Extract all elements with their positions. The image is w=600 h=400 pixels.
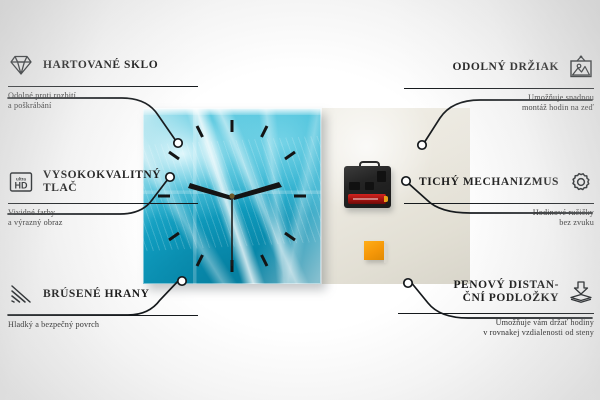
feature-high-quality-print[interactable]: ultra HD VYSOKOKVALITNÝ TLAČ Vividné far… <box>8 165 198 229</box>
feature-head: TICHÝ MECHANIZMUS <box>404 165 594 199</box>
feature-head: BRÚSENÉ HRANY <box>8 277 198 311</box>
feature-divider <box>8 315 198 316</box>
feature-description: Odolné proti rozbití a poškrábání <box>8 91 198 112</box>
gear-icon <box>568 170 594 194</box>
feature-foam-spacers[interactable]: PENOVÝ DISTAN- ČNÍ PODLOŽKY Umožňuje vám… <box>398 275 594 339</box>
diamond-icon <box>8 53 34 77</box>
feature-divider <box>8 86 198 87</box>
connector-node-durable-hanger <box>418 141 426 149</box>
feature-tempered-glass[interactable]: HARTOVANÉ SKLO Odolné proti rozbití a po… <box>8 48 198 112</box>
feature-head: ultra HD VYSOKOKVALITNÝ TLAČ <box>8 165 198 199</box>
feature-silent-mechanism[interactable]: TICHÝ MECHANIZMUS Hodinové ručičky bez z… <box>404 165 594 229</box>
ultra-hd-icon: ultra HD <box>8 170 34 194</box>
picture-hanger-icon <box>568 55 594 79</box>
feature-head: ODOLNÝ DRŽIAK <box>404 50 594 84</box>
feature-description: Umožňuje snadnou montáž hodin na zeď <box>404 93 594 114</box>
feature-desc-line-2: a výrazný obraz <box>8 218 198 228</box>
feature-desc-line-1: Umožňuje snadnou <box>404 93 594 103</box>
feature-head: PENOVÝ DISTAN- ČNÍ PODLOŽKY <box>398 275 594 309</box>
feature-title-line-2: ČNÍ PODLOŽKY <box>453 292 559 305</box>
feature-desc-line-2: bez zvuku <box>404 218 594 228</box>
ultra-hd-icon-bottom-label: HD <box>15 180 28 190</box>
feature-desc-line-1: Odolné proti rozbití <box>8 91 198 101</box>
feature-title: TICHÝ MECHANIZMUS <box>419 176 559 189</box>
feature-divider <box>398 313 594 314</box>
feature-description: Hladký a bezpečný povrch <box>8 320 198 330</box>
feature-desc-line-1: Hodinové ručičky <box>404 208 594 218</box>
feature-desc-line-2: a poškrábání <box>8 101 198 111</box>
feature-divider <box>404 203 594 204</box>
feature-divider <box>8 203 198 204</box>
brushed-edges-icon <box>8 282 34 306</box>
product-infographic: HARTOVANÉ SKLO Odolné proti rozbití a po… <box>0 0 600 400</box>
connector-node-tempered-glass <box>174 139 182 147</box>
foam-spacer-icon <box>568 280 594 304</box>
feature-desc-line-1: Hladký a bezpečný povrch <box>8 320 198 330</box>
feature-head: HARTOVANÉ SKLO <box>8 48 198 82</box>
feature-desc-line-2: montáž hodin na zeď <box>404 103 594 113</box>
feature-description: Umožňuje vám držať hodiny v rovnakej vzd… <box>398 318 594 339</box>
feature-description: Vividné farby a výrazný obraz <box>8 208 198 229</box>
feature-title: BRÚSENÉ HRANY <box>43 288 150 301</box>
feature-title-line-1: PENOVÝ DISTAN- <box>453 279 559 292</box>
feature-desc-line-2: v rovnakej vzdialenosti od steny <box>398 328 594 338</box>
feature-desc-line-1: Vividné farby <box>8 208 198 218</box>
feature-divider <box>404 88 594 89</box>
feature-desc-line-1: Umožňuje vám držať hodiny <box>398 318 594 328</box>
feature-description: Hodinové ručičky bez zvuku <box>404 208 594 229</box>
feature-title: VYSOKOKVALITNÝ TLAČ <box>43 169 198 194</box>
feature-title: HARTOVANÉ SKLO <box>43 59 158 72</box>
feature-ground-edges[interactable]: BRÚSENÉ HRANY Hladký a bezpečný povrch <box>8 277 198 330</box>
feature-durable-hanger[interactable]: ODOLNÝ DRŽIAK Umožňuje snadnou montáž ho… <box>404 50 594 114</box>
feature-title: PENOVÝ DISTAN- ČNÍ PODLOŽKY <box>453 279 559 304</box>
feature-title: ODOLNÝ DRŽIAK <box>452 61 559 74</box>
